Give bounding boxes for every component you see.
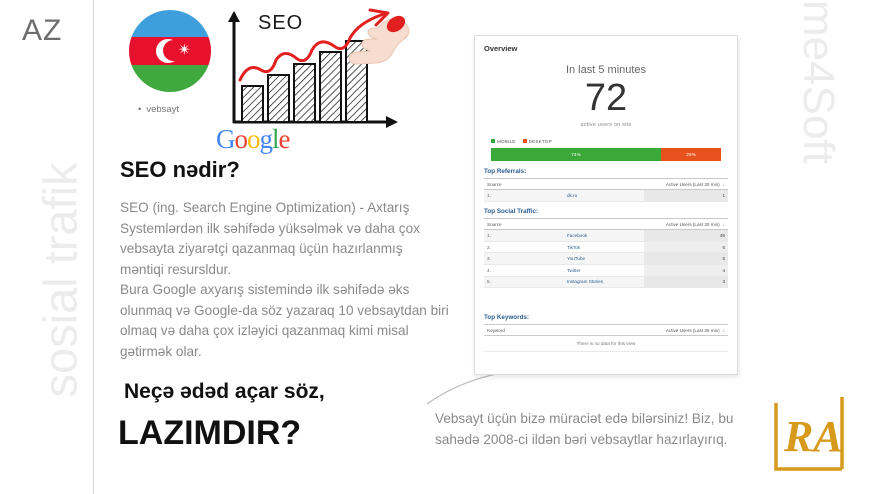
row-index: 2.	[484, 241, 564, 253]
device-split-percent-mobile: 74%	[571, 152, 581, 157]
legend-swatch-desktop-icon	[523, 139, 527, 143]
device-split-segment-desktop: 26%	[661, 148, 721, 161]
brand-vertical-watermark: Time4Soft	[793, 0, 843, 295]
device-split-segment-mobile: 74%	[491, 148, 661, 161]
device-split-legend: MOBILEDESKTOP	[491, 139, 559, 144]
google-letter-g2: g	[260, 124, 273, 154]
col-header-source[interactable]: Source	[484, 179, 644, 190]
top-social-title: Top Social Traffic:	[484, 208, 538, 215]
seo-chart-label: SEO	[258, 12, 303, 35]
sort-desc-icon: ↓	[723, 222, 725, 227]
row-active-users: 4	[644, 264, 728, 276]
table-header-row: Source Active Users (Last 30 min)↓	[484, 179, 728, 190]
col-header-active-users[interactable]: Active Users (Last 30 min)↓	[644, 179, 728, 190]
question-line-1: Neçə ədəd açar söz,	[124, 380, 325, 404]
google-letter-e: e	[279, 124, 290, 154]
top-keywords-table: Keyword Active Users (Last 30 min)↓ Ther…	[484, 324, 728, 352]
google-letter-o2: o	[247, 124, 260, 154]
legend-label-desktop: DESKTOP	[529, 139, 552, 144]
table-row[interactable]: 3.YouTube5	[484, 253, 728, 265]
ra-logo: RA	[770, 393, 856, 479]
row-active-users: 49	[644, 230, 728, 242]
sort-desc-icon: ↓	[723, 328, 725, 333]
google-letter-o1: o	[235, 124, 248, 154]
slide-root: AZ sosial trafik Time4Soft ✴ •vebsayt	[0, 0, 878, 494]
row-source[interactable]: Instagram Stories	[564, 276, 644, 288]
left-vertical-watermark: sosial trafik	[33, 0, 88, 398]
top-keywords-title: Top Keywords:	[484, 314, 529, 321]
row-active-users: 6	[644, 241, 728, 253]
device-split-bar: 74% 26%	[491, 148, 721, 161]
table-row[interactable]: 1.Facebook49	[484, 230, 728, 242]
sort-desc-icon: ↓	[723, 182, 725, 187]
svg-text:RA: RA	[783, 412, 843, 461]
vebsayt-label: vebsayt	[146, 104, 179, 115]
google-letter-g1: G	[216, 124, 235, 154]
google-wordmark: Google	[216, 124, 290, 155]
row-source[interactable]: YouTube	[564, 253, 644, 265]
azerbaijan-flag-icon: ✴	[129, 10, 211, 92]
question-line-2: LAZIMDIR?	[118, 414, 301, 453]
row-source[interactable]: dk.ru	[564, 190, 644, 202]
realtime-active-user-count: 72	[475, 76, 737, 120]
empty-state-message: There is no data for this view	[484, 336, 728, 352]
legend-label-mobile: MOBILE	[497, 139, 516, 144]
left-rail: AZ sosial trafik	[0, 0, 95, 494]
col-header-source[interactable]: Source	[484, 219, 644, 230]
table-header-row: Keyword Active Users (Last 30 min)↓	[484, 325, 728, 336]
row-index: 1.	[484, 230, 564, 242]
table-row[interactable]: 2.TikTok6	[484, 241, 728, 253]
top-social-table: Source Active Users (Last 30 min)↓ 1.Fac…	[484, 218, 728, 288]
google-analytics-realtime-card: Overview In last 5 minutes 72 active use…	[474, 35, 738, 375]
table-row[interactable]: 5.Instagram Stories3	[484, 276, 728, 288]
row-index: 1.	[484, 190, 564, 202]
section-heading: SEO nədir?	[120, 157, 240, 183]
row-active-users: 1	[644, 190, 728, 202]
section-body-text: SEO (ing. Search Engine Optimization) - …	[120, 198, 450, 362]
device-split-percent-desktop: 26%	[686, 152, 696, 157]
realtime-caption: active users on site	[475, 122, 737, 128]
row-source[interactable]: Facebook	[564, 230, 644, 242]
table-row[interactable]: 4.Twitter4	[484, 264, 728, 276]
card-title: Overview	[484, 44, 517, 53]
table-empty-row: There is no data for this view	[484, 336, 728, 352]
realtime-subtitle: In last 5 minutes	[475, 64, 737, 76]
legend-item-mobile: MOBILE	[491, 139, 516, 144]
row-source[interactable]: TikTok	[564, 241, 644, 253]
row-index: 5.	[484, 276, 564, 288]
table-header-row: Source Active Users (Last 30 min)↓	[484, 219, 728, 230]
row-active-users: 3	[644, 276, 728, 288]
hero-graphic: ✴ •vebsayt	[118, 4, 428, 154]
row-index: 3.	[484, 253, 564, 265]
col-header-active-users[interactable]: Active Users (Last 30 min)↓	[644, 219, 728, 230]
col-header-active-users[interactable]: Active Users (Last 30 min)↓	[644, 325, 728, 336]
bullet-dot-icon: •	[138, 104, 141, 115]
contact-paragraph: Vebsayt üçün bizə müraciət edə bilərsini…	[435, 408, 765, 450]
vebsayt-bullet-item: •vebsayt	[138, 104, 179, 115]
legend-swatch-mobile-icon	[491, 139, 495, 143]
legend-item-desktop: DESKTOP	[523, 139, 552, 144]
top-referrals-table: Source Active Users (Last 30 min)↓ 1.dk.…	[484, 178, 728, 202]
col-header-keyword[interactable]: Keyword	[484, 325, 644, 336]
top-referrals-title: Top Referrals:	[484, 168, 526, 175]
row-index: 4.	[484, 264, 564, 276]
row-active-users: 5	[644, 253, 728, 265]
seo-growth-chart-illustration	[216, 4, 416, 134]
vertical-divider	[93, 0, 94, 494]
row-source[interactable]: Twitter	[564, 264, 644, 276]
table-row[interactable]: 1.dk.ru1	[484, 190, 728, 202]
